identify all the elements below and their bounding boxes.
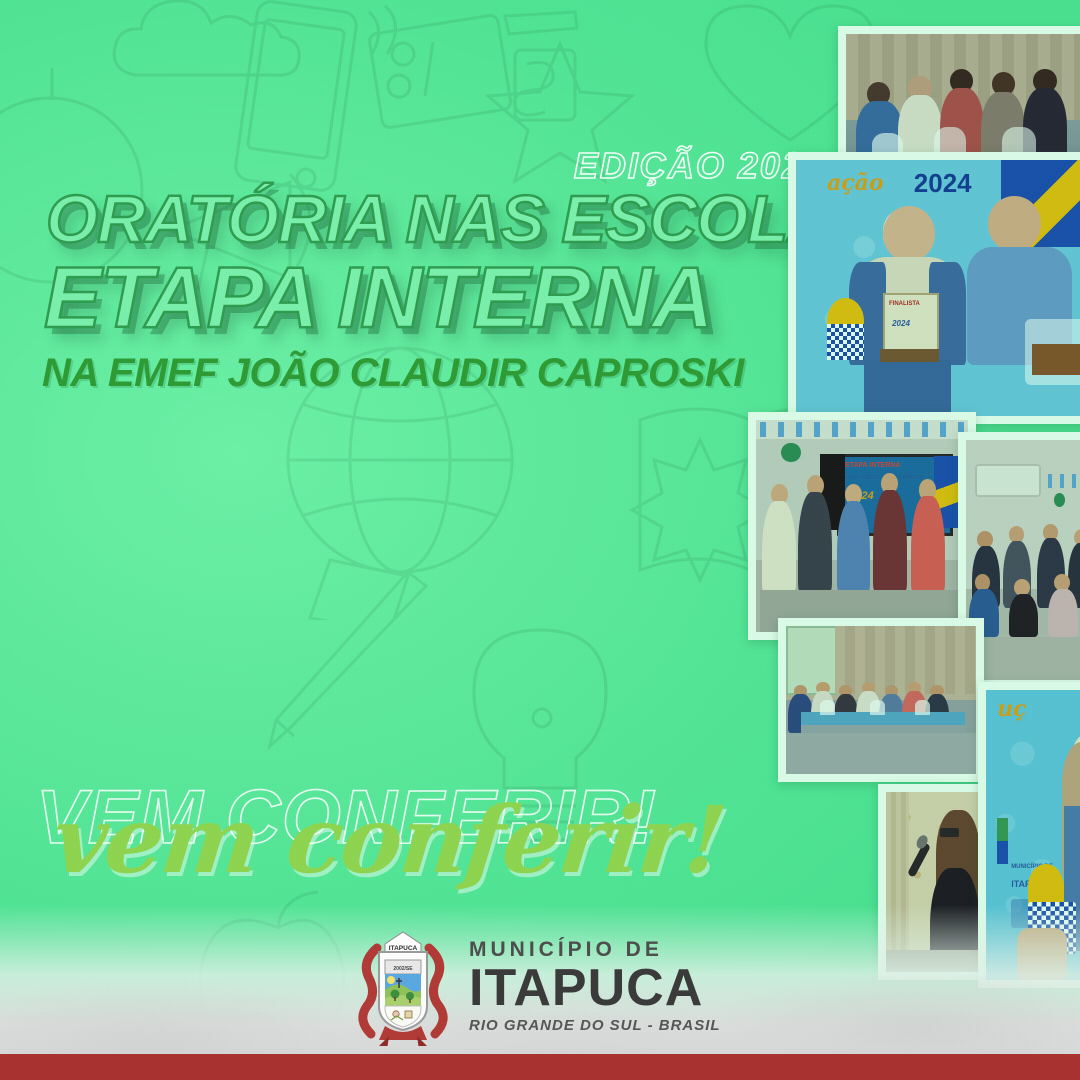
svg-text:2002/SE: 2002/SE — [393, 966, 413, 972]
cta-script-text: vem conferir! — [48, 786, 729, 894]
call-to-action: VEM CONFERIR! vem conferir! — [36, 768, 796, 898]
edition-label: EDIÇÃO 2024 — [42, 148, 832, 184]
photo-award-pair: ação 2024 FINALISTA 2024 — [788, 152, 1080, 424]
svg-text:ITAPUCA: ITAPUCA — [389, 945, 418, 952]
brand-text-block: MUNICÍPIO DE ITAPUCA RIO GRANDE DO SUL -… — [469, 939, 721, 1033]
title-line-1: ORATÓRIA NAS ESCOLAS — [46, 188, 832, 252]
brand-line-municipio: MUNICÍPIO DE — [469, 939, 721, 960]
pencil-icon — [250, 530, 490, 760]
title-line-2: ETAPA INTERNA — [44, 258, 832, 340]
headline-block: EDIÇÃO 2024 ORATÓRIA NAS ESCOLAS ETAPA I… — [42, 148, 832, 396]
poster-root: EDIÇÃO 2024 ORATÓRIA NAS ESCOLAS ETAPA I… — [0, 0, 1080, 1080]
photo-collage: ação 2024 FINALISTA 2024 — [740, 0, 1080, 1000]
photo-staff-group: ETAPA INTERNA EMEF JOÃO CLAUDIR CAPROSKI… — [748, 412, 976, 640]
music-note-icon — [355, 0, 435, 70]
footer-band: ITAPUCA 2002/SE — [0, 905, 1080, 1080]
brand-line-state: RIO GRANDE DO SUL - BRASIL — [469, 1018, 721, 1033]
brand-line-itapuca: ITAPUCA — [469, 962, 721, 1014]
photo-table-row — [778, 618, 984, 782]
municipality-brand: ITAPUCA 2002/SE — [355, 926, 721, 1046]
itapuca-coat-of-arms-icon: ITAPUCA 2002/SE — [355, 926, 451, 1046]
cloud-icon — [105, 0, 335, 100]
school-subtitle: NA EMEF JOÃO CLAUDIR CAPROSKI — [42, 351, 832, 396]
footer-red-bar — [0, 1054, 1080, 1080]
